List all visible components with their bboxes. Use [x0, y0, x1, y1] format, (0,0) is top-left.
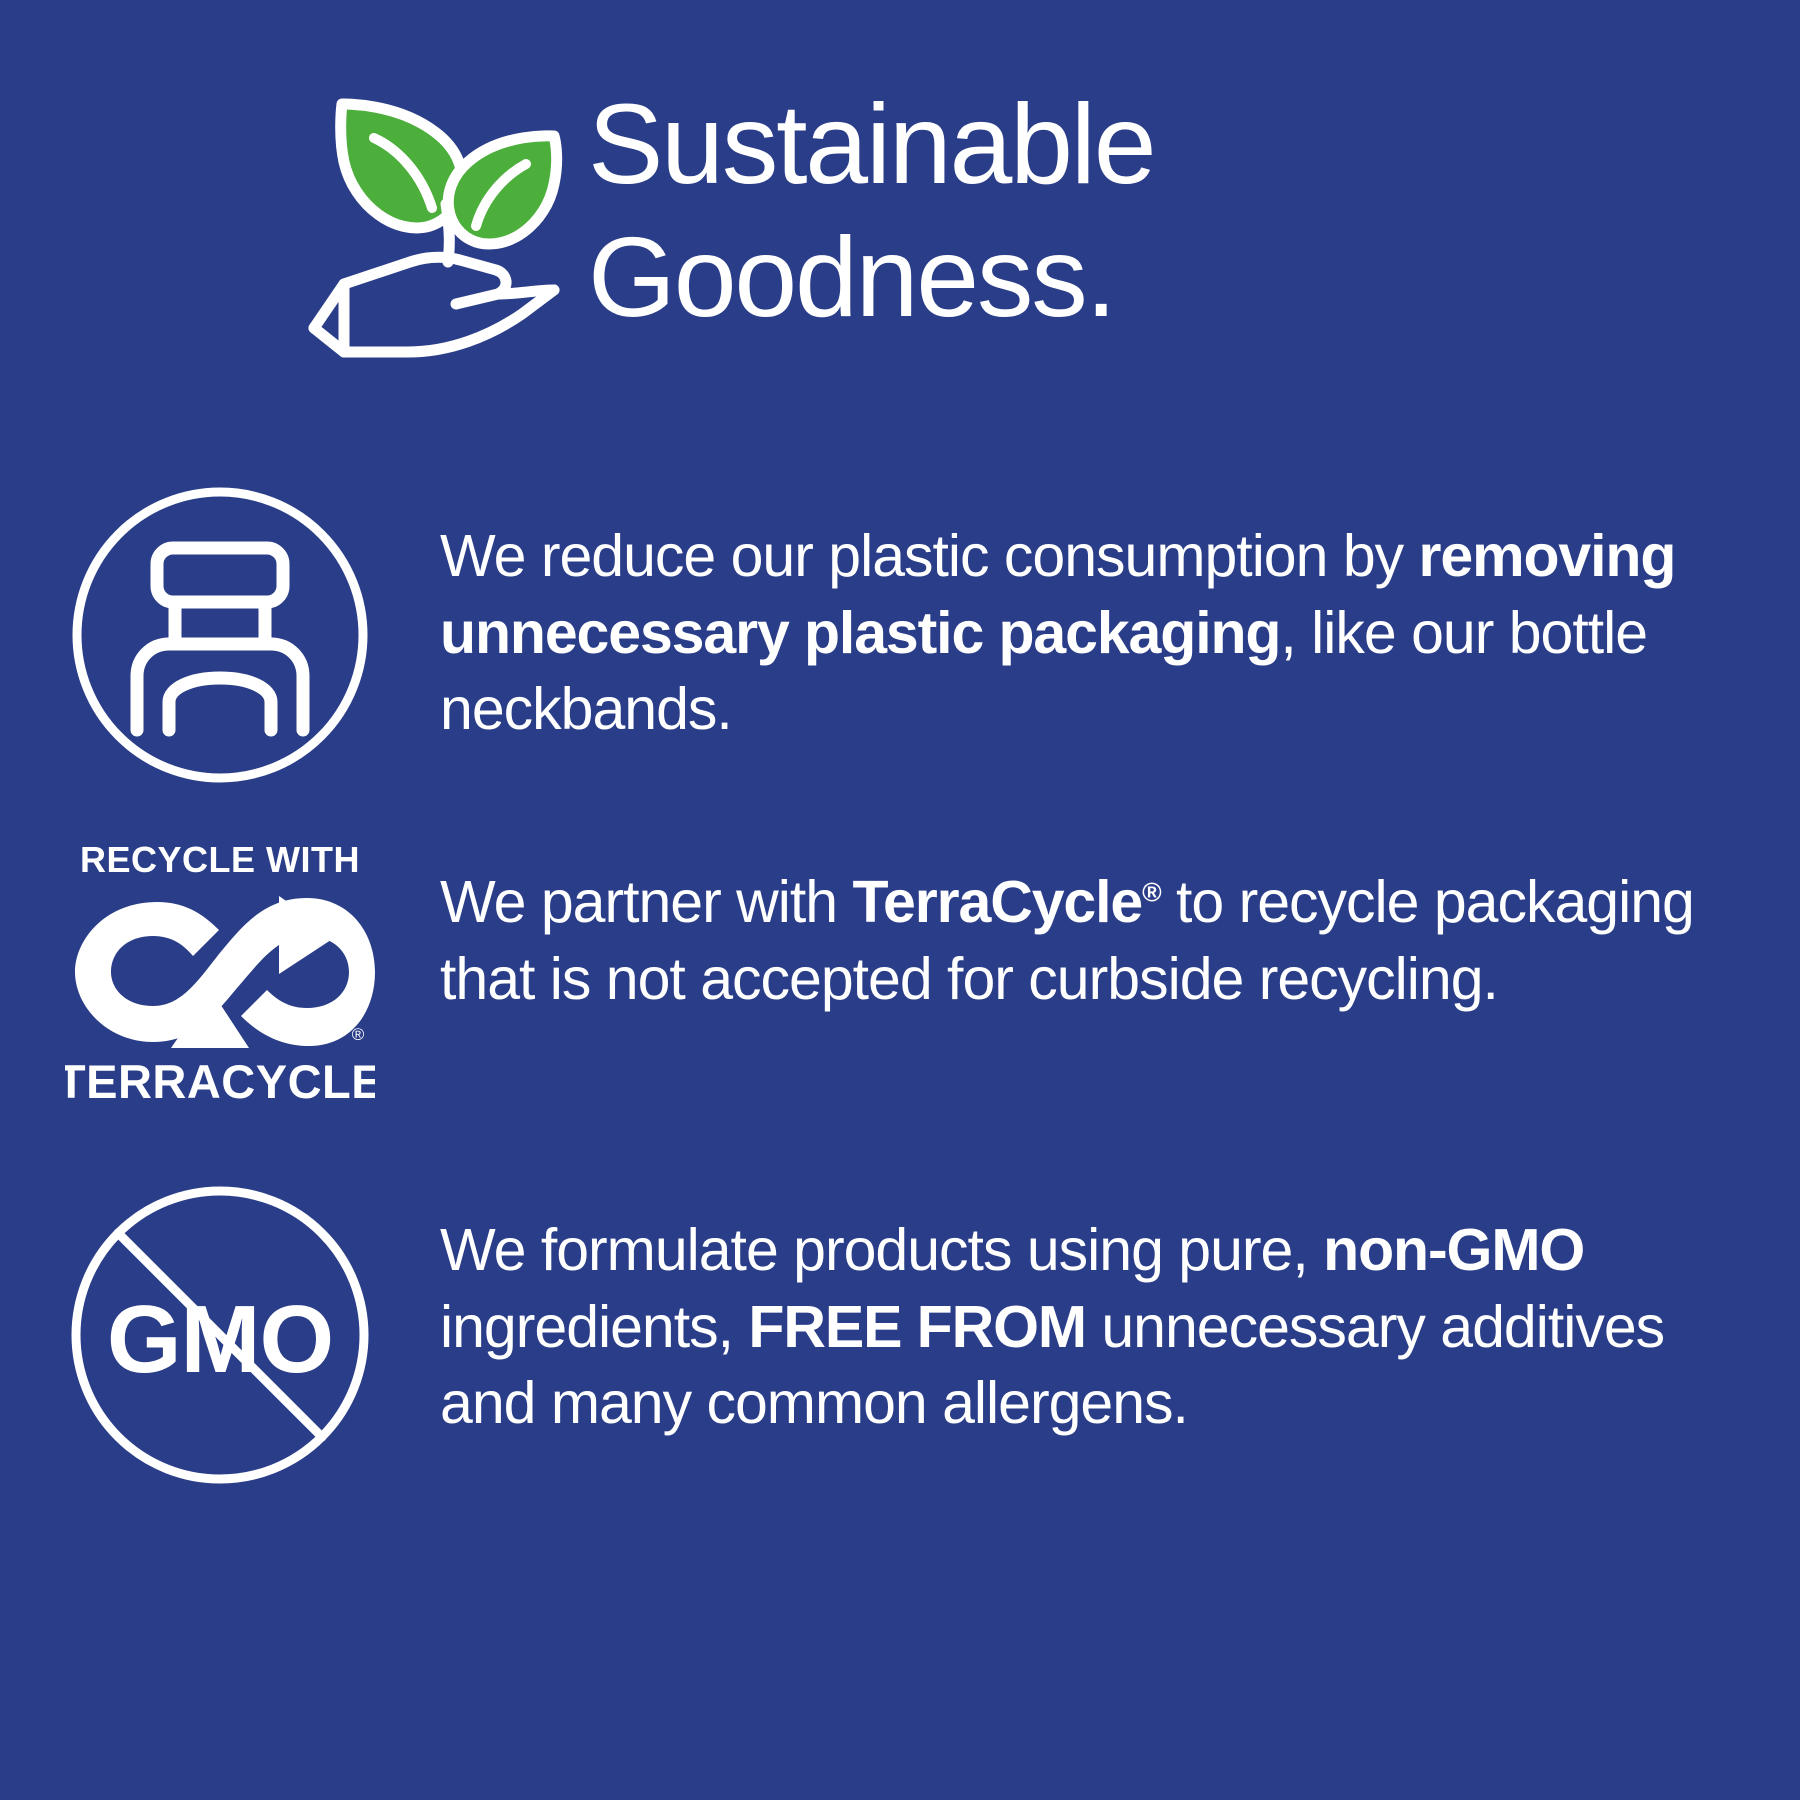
text-segment: We partner with — [440, 869, 852, 935]
feature-text-terracycle-partner: We partner with TerraCycle® to recycle p… — [440, 840, 1800, 1017]
page-title: Sustainable Goodness. — [588, 78, 1154, 345]
hand-holding-sprout-icon — [300, 84, 570, 359]
terracycle-top-label: RECYCLE WITH — [80, 840, 360, 880]
bottle-no-neckband-icon — [65, 480, 375, 790]
text-segment-bold: TerraCycle — [852, 869, 1142, 935]
feature-icon-wrapper — [0, 480, 440, 790]
gmo-label: GMO — [107, 1286, 333, 1393]
no-gmo-icon: GMO — [65, 1180, 375, 1490]
text-segment-bold: FREE FROM — [748, 1294, 1086, 1360]
text-segment: We formulate products using pure, — [440, 1217, 1323, 1283]
feature-row-plastic-reduction: We reduce our plastic consumption by rem… — [0, 480, 1800, 790]
registered-mark: ® — [352, 1025, 365, 1044]
text-segment-bold: non-GMO — [1323, 1217, 1584, 1283]
text-segment: We reduce our plastic consumption by — [440, 523, 1419, 589]
header: Sustainable Goodness. — [300, 78, 1550, 368]
registered-mark: ® — [1142, 877, 1160, 907]
feature-row-terracycle-partner: RECYCLE WITH ® TERRACYCLE We partner wit… — [0, 840, 1800, 1105]
terracycle-logo-icon: RECYCLE WITH ® TERRACYCLE — [65, 840, 375, 1105]
terracycle-bottom-label: TERRACYCLE — [65, 1055, 375, 1105]
feature-icon-wrapper: GMO — [0, 1180, 440, 1490]
text-segment: ingredients, — [440, 1294, 748, 1360]
sustainable-goodness-infographic: Sustainable Goodness. We reduce our pl — [0, 0, 1800, 1800]
feature-icon-wrapper: RECYCLE WITH ® TERRACYCLE — [0, 840, 440, 1105]
feature-text-non-gmo: We formulate products using pure, non-GM… — [440, 1180, 1800, 1442]
feature-text-plastic-reduction: We reduce our plastic consumption by rem… — [440, 480, 1800, 748]
feature-row-non-gmo: GMO We formulate products using pure, no… — [0, 1180, 1800, 1490]
